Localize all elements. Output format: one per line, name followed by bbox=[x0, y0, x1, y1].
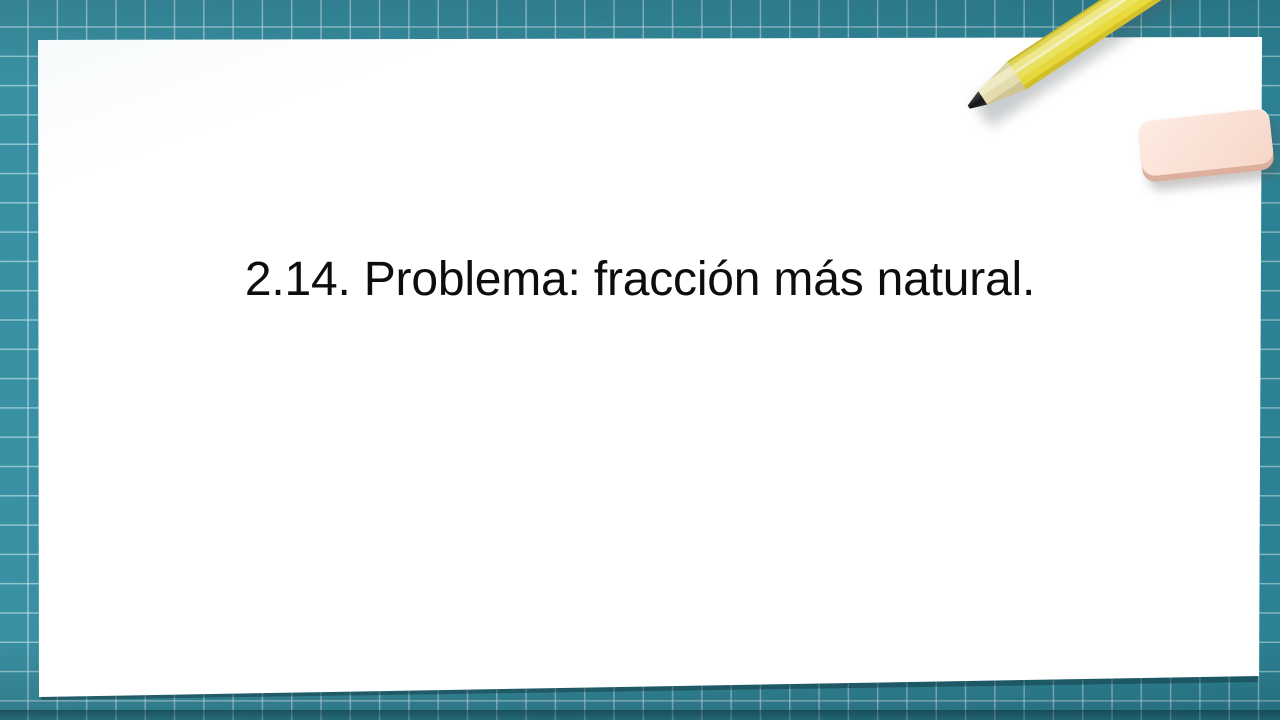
page-title: 2.14. Problema: fracción más natural. bbox=[60, 250, 1220, 310]
eraser-icon bbox=[1137, 107, 1275, 183]
slide-title-container: 2.14. Problema: fracción más natural. bbox=[60, 250, 1220, 310]
paper-sheet bbox=[0, 0, 1280, 720]
presentation-slide: 2.14. Problema: fracción más natural. bbox=[0, 0, 1280, 720]
